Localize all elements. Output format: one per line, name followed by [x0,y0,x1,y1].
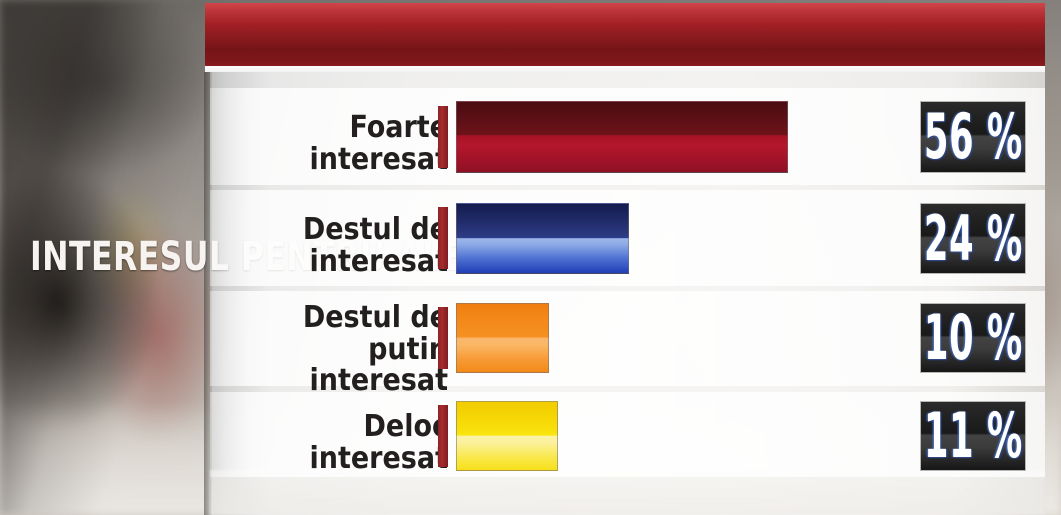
row-tick-marker [438,405,448,467]
bar-deloc-interesat [456,401,558,471]
chart-row: Deloc interesat 11 % [210,392,1045,477]
title-bar [205,3,1045,66]
chart-row: Destul de interesat 24 % [210,190,1045,286]
chart-row: Destul de putin interesat 10 % [210,291,1045,386]
percent-badge: 10 % [920,303,1026,373]
percent-value: 24 % [924,208,1023,270]
title-bar-sheen [205,3,1045,66]
bar-destul-de-interesat [456,203,629,274]
percent-value: 11 % [924,405,1023,467]
percent-value: 56 % [924,106,1023,168]
row-label: Destul de putin interesat [222,302,448,397]
title-underline [205,66,1045,72]
bar-foarte-interesat [456,101,788,173]
row-tick-marker [438,307,448,369]
row-tick-marker [438,106,448,168]
row-label: Foarte interesat [222,112,448,175]
row-label: Destul de interesat [222,214,448,277]
bar-destul-de-putin-interesat [456,303,549,373]
percent-value: 10 % [924,307,1023,369]
row-tick-marker [438,207,448,269]
percent-badge: 11 % [920,401,1026,471]
percent-badge: 56 % [920,101,1026,173]
percent-badge: 24 % [920,203,1026,274]
chart-row: Foarte interesat 56 % [210,88,1045,185]
row-label: Deloc interesat [222,411,448,474]
